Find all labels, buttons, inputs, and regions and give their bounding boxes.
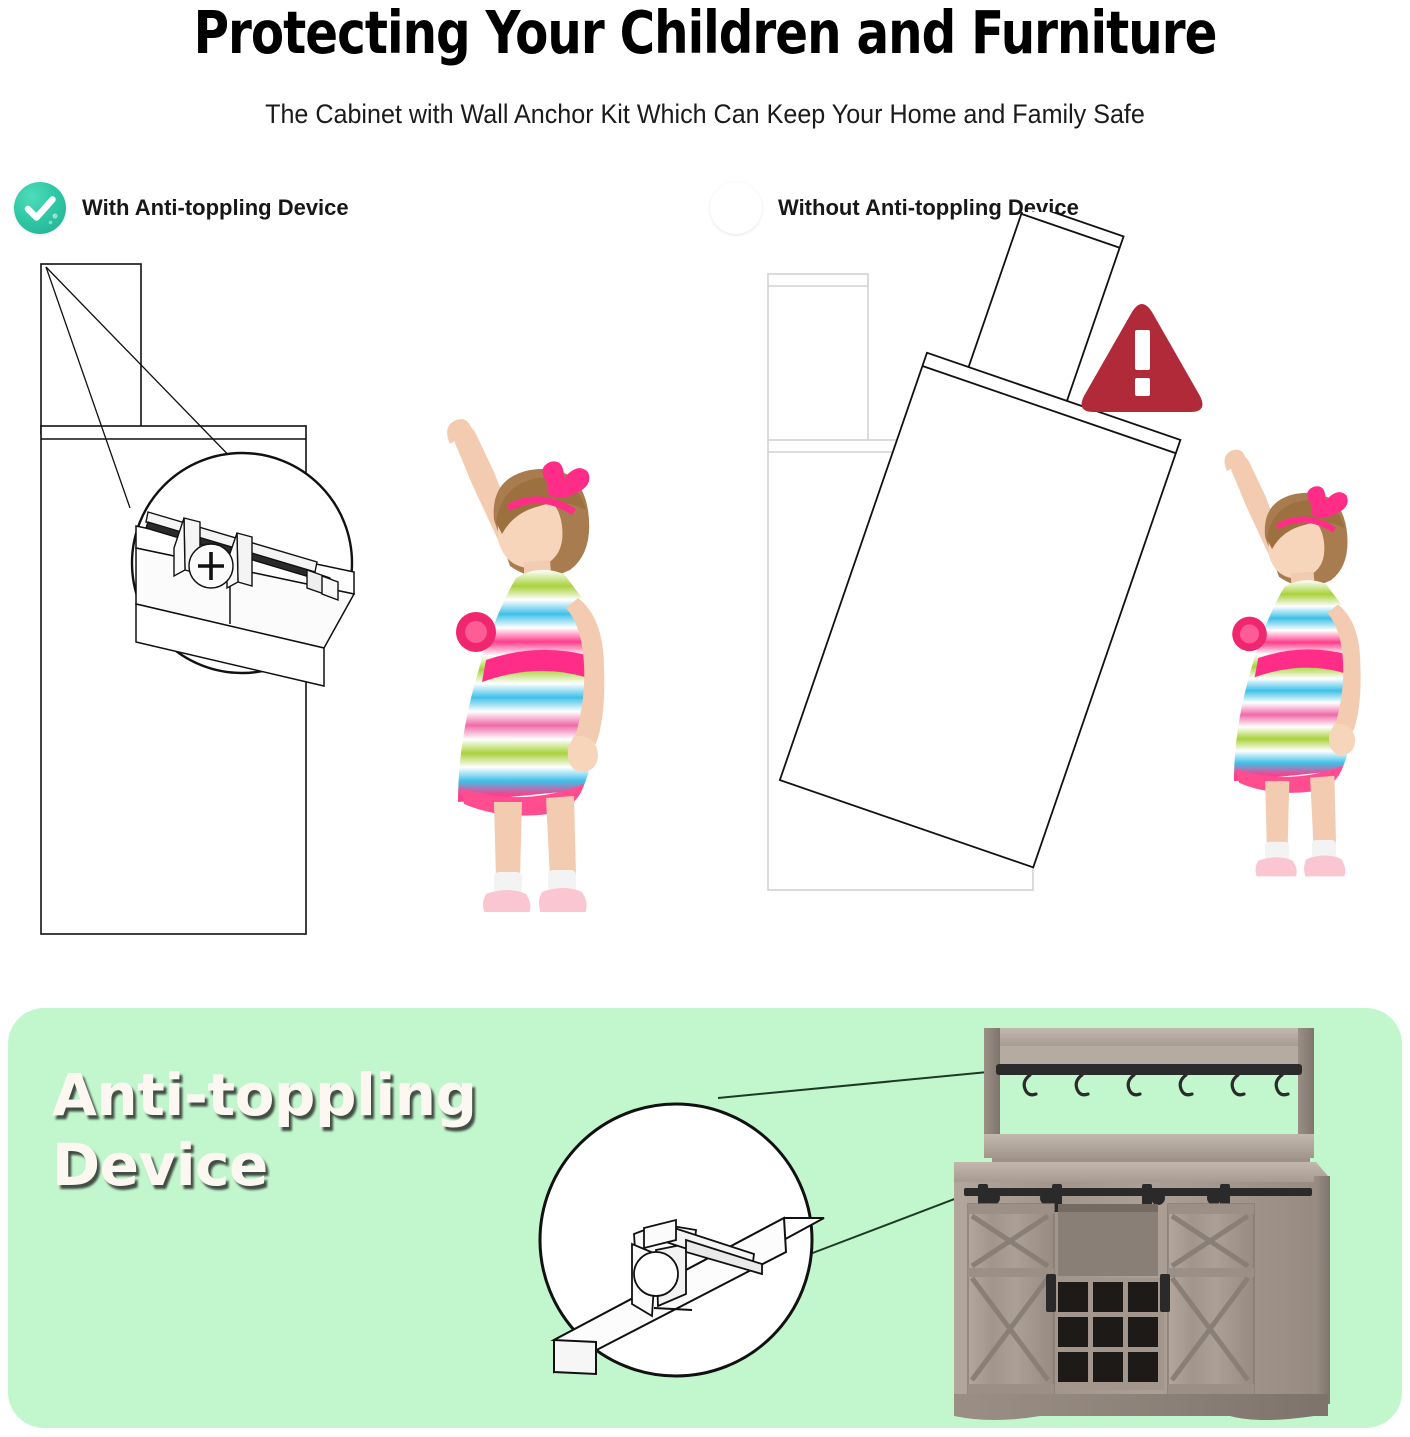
child-figure-left (398, 410, 666, 935)
child-figure-right (1182, 404, 1410, 934)
anti-toppling-panel: Anti-toppling Device (8, 1008, 1402, 1428)
header: Protecting Your Children and Furniture T… (0, 0, 1410, 150)
warning-triangle-icon (1082, 304, 1203, 412)
comparison-section: With Anti-toppling Device (0, 160, 1410, 990)
page-title: Protecting Your Children and Furniture (127, 2, 1283, 64)
with-device-label-row: With Anti-toppling Device (14, 182, 349, 234)
toppling-cabinet-diagram (752, 212, 1222, 952)
check-circle-icon (14, 182, 66, 234)
panel-heading-line1: Anti-toppling (52, 1061, 477, 1129)
with-device-label: With Anti-toppling Device (82, 195, 349, 221)
panel-heading: Anti-toppling Device (52, 1060, 572, 1200)
anchored-cabinet-diagram (24, 256, 404, 956)
check-glyph (14, 182, 66, 234)
product-cabinet (930, 1016, 1334, 1434)
page-subtitle: The Cabinet with Wall Anchor Kit Which C… (49, 98, 1360, 130)
panel-heading-line2: Device (52, 1130, 572, 1200)
